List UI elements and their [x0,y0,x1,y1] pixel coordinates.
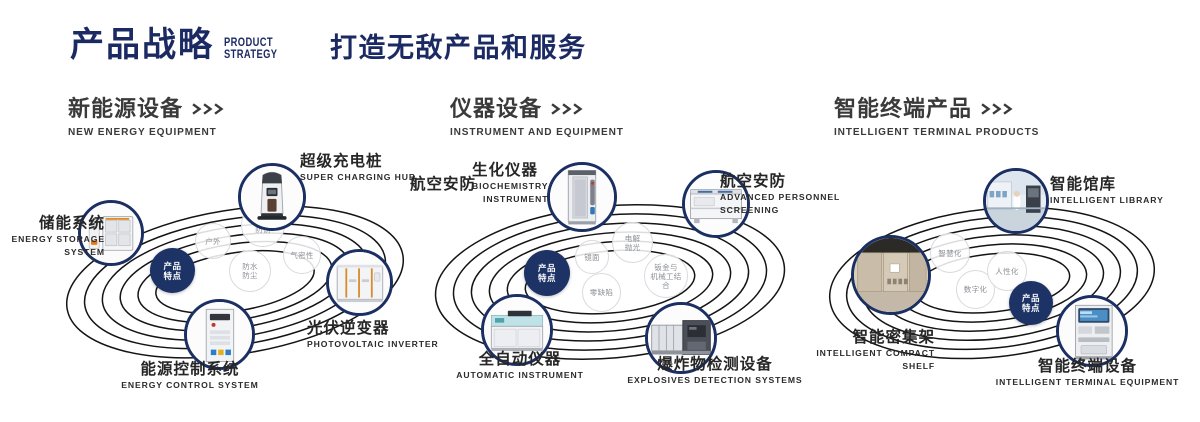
page-title-cn: 产品战略 [70,28,214,62]
label-intelligent-terminal-equipment: 智能终端设备 INTELLIGENT TERMINAL EQUIPMENT [975,358,1200,388]
section-title-cn: 智能终端产品 [834,96,1048,121]
label-biochemistry-instrument: 生化仪器 BIOCHEMISTRY INSTRUMENT [472,162,548,205]
product-bubble-compact-shelf[interactable] [851,235,931,315]
label-en-line1: ENERGY STORAGE [0,234,105,245]
section-title-en: INSTRUMENT AND EQUIPMENT [450,126,624,138]
feature-bubble-outdoor: 户外 [195,223,231,259]
section-title-en: NEW ENERGY EQUIPMENT [68,126,220,138]
chevron-right-icon [192,103,226,115]
biochemistry-scanner-icon [550,165,614,229]
feature-badge-main: 产品 特点 [524,250,570,296]
label-photovoltaic-inverter: 光伏逆变器 PHOTOVOLTAIC INVERTER [307,320,439,350]
page-title-en-line2: STRATEGY [224,48,277,60]
page-subtitle: 打造无敌产品和服务 [330,32,587,64]
smart-library-icon [986,171,1046,231]
section-title-cn: 新能源设备 [68,96,226,121]
feature-bubble-zero-defect: 零缺陷 [582,273,621,312]
feature-bubble-intelligentization: 智慧化 [930,233,970,273]
pv-inverter-icon [329,252,390,313]
feature-bubble-waterproof: 防水防尘 [229,250,271,292]
section-title-intelligent-terminal: 智能终端产品 INTELLIGENT TERMINAL PRODUCTS [834,96,1048,138]
feature-bubble-mirror-finish: 镜面 [575,240,609,274]
label-intelligent-library: 智能馆库 INTELLIGENT LIBRARY [1050,176,1164,206]
feature-bubble-airtight: 气密性 [283,236,321,274]
label-en-line2: SYSTEM [0,247,105,258]
charging-pile-icon [241,166,303,228]
label-aviation-security-left: 航空安防 [410,176,476,193]
feature-badge-main: 产品 特点 [1009,281,1053,325]
section-title-new-energy: 新能源设备 NEW ENERGY EQUIPMENT [68,96,226,138]
label-energy-storage: 储能系统 ENERGY STORAGE SYSTEM [0,215,105,258]
product-bubble-pv-inverter[interactable] [326,249,393,316]
chevron-right-icon [981,103,1015,115]
label-intelligent-compact-shelf: 智能密集架 INTELLIGENT COMPACT SHELF [790,329,935,372]
product-bubble-intelligent-library[interactable] [983,168,1049,234]
product-bubble-charging-hub[interactable] [238,163,306,231]
section-title-cn: 仪器设备 [450,96,631,121]
feature-bubble-sheetmetal-machining: 钣金与机械工结合 [644,254,688,298]
product-bubble-biochemistry-instrument[interactable] [547,162,617,232]
label-super-charging-hub: 超级充电桩 SUPER CHARGING HUB [300,153,416,183]
product-bubble-energy-control[interactable] [184,299,255,370]
compact-shelf-icon [854,238,928,312]
section-title-instrument: 仪器设备 INSTRUMENT AND EQUIPMENT [450,96,631,138]
feature-badge-main: 产品 特点 [150,248,195,293]
label-energy-control-system: 能源控制系统 ENERGY CONTROL SYSTEM [85,361,295,391]
poster-canvas: 产品战略 PRODUCT STRATEGY 打造无敌产品和服务 新能源设备 NE… [0,0,1200,422]
product-bubble-intelligent-terminal-equipment[interactable] [1056,295,1128,367]
section-title-en: INTELLIGENT TERMINAL PRODUCTS [834,126,1039,138]
page-title: 产品战略 PRODUCT STRATEGY [70,28,292,62]
feature-bubble-electropolishing: 电解抛光 [612,222,653,263]
page-title-en: PRODUCT STRATEGY [224,36,277,60]
smart-terminal-kiosk-icon [1059,298,1125,364]
label-automatic-instrument: 全自动仪器 AUTOMATIC INSTRUMENT [430,351,610,381]
control-cabinet-icon [187,302,252,367]
chevron-right-icon [551,103,585,115]
